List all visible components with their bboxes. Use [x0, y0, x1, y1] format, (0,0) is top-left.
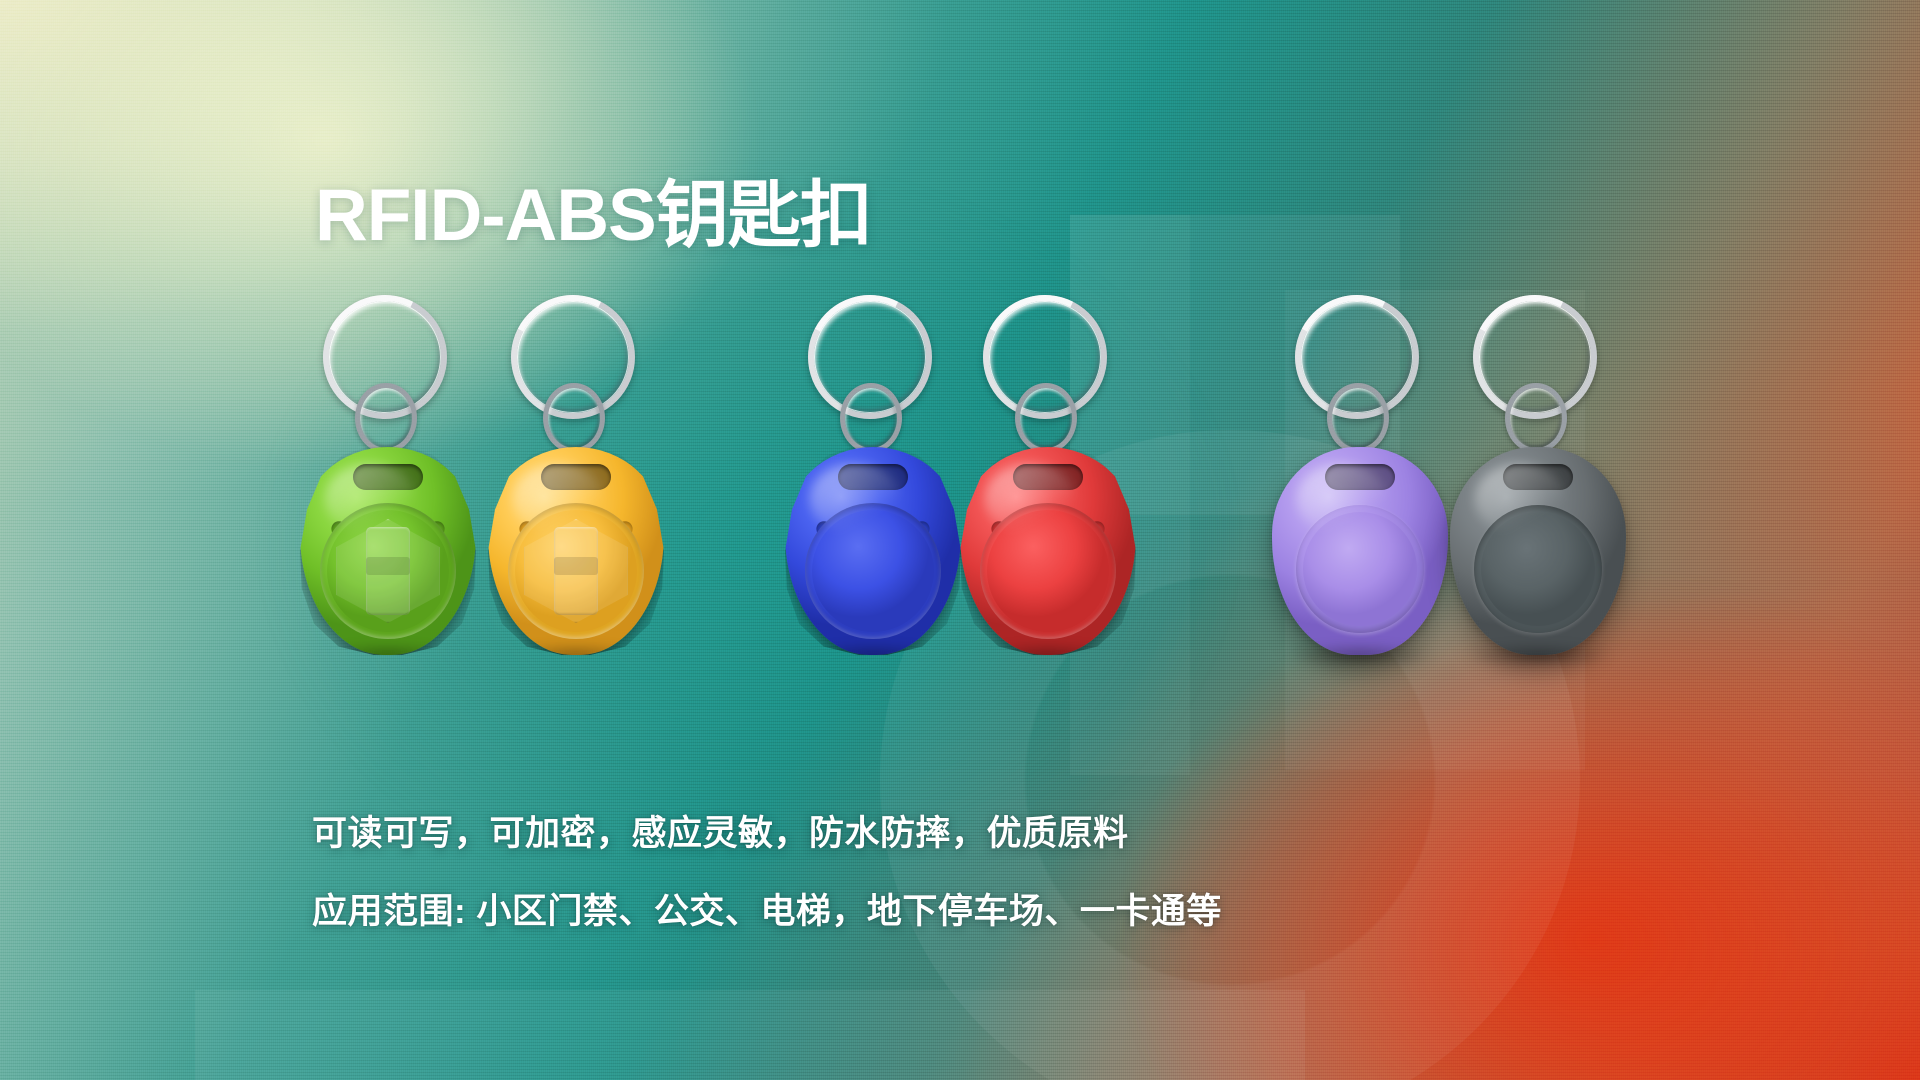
drop-shadow	[1285, 643, 1435, 669]
keyfob-disc	[320, 503, 456, 639]
keyfob-disc-inner	[987, 510, 1109, 632]
keyfob-disc	[508, 503, 644, 639]
keyfob-body	[1272, 447, 1448, 655]
keyring-small-icon	[1015, 383, 1077, 453]
keyfob-disc-inner	[1481, 512, 1595, 626]
embossed-logo-icon	[524, 519, 628, 623]
keyfob-body	[1450, 447, 1626, 655]
keyfob-disc	[1296, 505, 1424, 633]
product-banner: RFID-ABS钥匙扣	[0, 0, 1920, 1080]
keyring-small-icon	[840, 383, 902, 453]
feature-tagline: 可读可写，可加密，感应灵敏，防水防摔，优质原料	[312, 805, 1129, 856]
page-title: RFID-ABS钥匙扣	[315, 177, 872, 256]
keyfob-disc	[805, 503, 941, 639]
embossed-logo-icon	[336, 519, 440, 623]
keyring-small-icon	[1505, 383, 1567, 453]
drop-shadow	[1463, 643, 1613, 669]
keyring-small-icon	[1327, 383, 1389, 453]
keyring-small-icon	[543, 383, 605, 453]
keyring-small-icon	[355, 383, 417, 453]
keyfob-disc-inner	[327, 510, 449, 632]
keyfob-disc	[980, 503, 1116, 639]
keyfob-disc	[1474, 505, 1602, 633]
keyfob-disc-inner	[1303, 512, 1417, 626]
keyfob-disc-inner	[515, 510, 637, 632]
application-tagline: 应用范围: 小区门禁、公交、电梯，地下停车场、一卡通等	[312, 883, 1222, 934]
keyfob-disc-inner	[812, 510, 934, 632]
